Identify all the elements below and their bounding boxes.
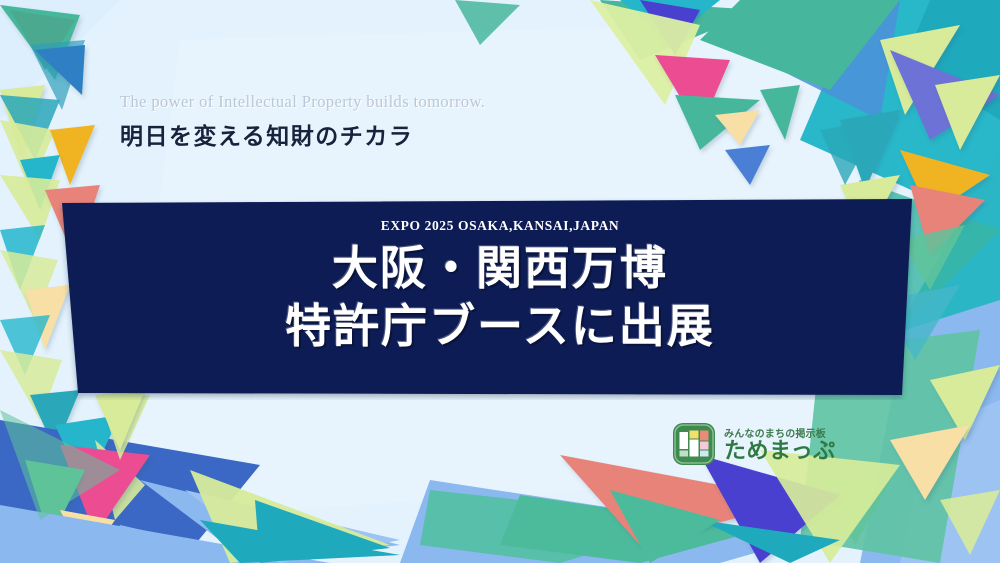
- logo-text-block: みんなのまちの掲示板 ためまっぷ: [724, 425, 836, 463]
- poster-canvas: The power of Intellectual Property build…: [0, 0, 1000, 563]
- tagline-japanese: 明日を変える知財のチカラ: [120, 117, 485, 151]
- tamemap-bulletin-board-icon: [672, 422, 716, 466]
- navy-banner: [0, 195, 1000, 400]
- tamemap-logo[interactable]: みんなのまちの掲示板 ためまっぷ: [672, 422, 836, 466]
- logo-name: ためまっぷ: [724, 441, 836, 463]
- logo-subtitle: みんなのまちの掲示板: [724, 425, 836, 440]
- tagline-block: The power of Intellectual Property build…: [120, 92, 485, 151]
- tagline-english: The power of Intellectual Property build…: [120, 92, 485, 112]
